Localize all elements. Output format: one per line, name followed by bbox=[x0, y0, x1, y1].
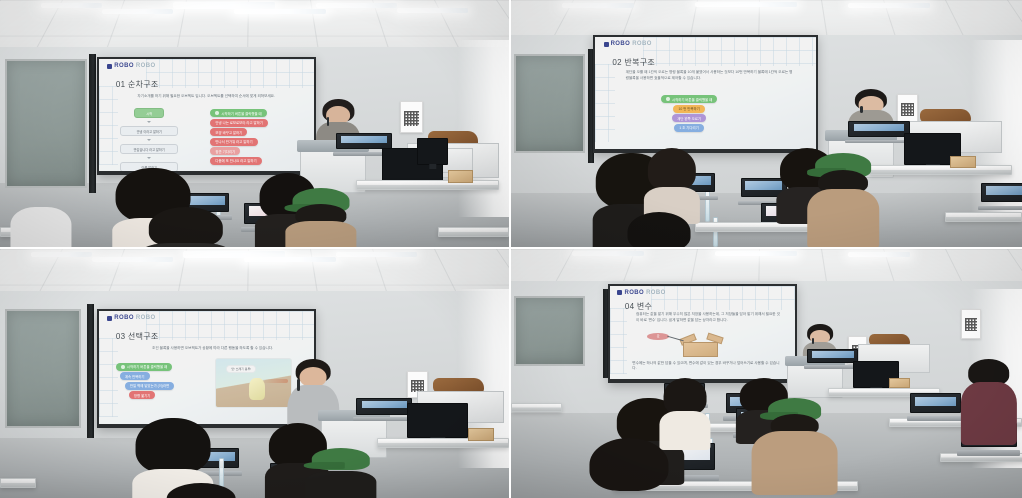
laptop-lid bbox=[356, 398, 412, 414]
slide-footer-text: 변수에는 하나의 값만 담을 수 있으며, 변수에 값이 있는 경우 바꾸거나 … bbox=[632, 361, 780, 372]
torso bbox=[961, 382, 1017, 445]
code-block-label: 방향 옮기기 bbox=[134, 393, 151, 398]
classroom-scene: ROBOROBO 04 변수 컴퓨터는 값을 맡기 위해 무수히 많은 저장을 … bbox=[511, 249, 1022, 498]
slide: ROBOROBO 01 순차구조 자기소개를 하기 위해 필요한 오브젝트 입니… bbox=[99, 59, 314, 172]
hair bbox=[149, 207, 223, 247]
laptop-screen bbox=[915, 397, 956, 406]
play-icon bbox=[666, 97, 670, 101]
ceiling-light bbox=[92, 257, 173, 262]
code-block: 계속 반복하기 bbox=[120, 372, 150, 380]
laptop-screen bbox=[986, 186, 1022, 195]
slide: ROBOROBO 03 선택구조 조건 블록을 사용하면 오브젝트가 상황에 따… bbox=[99, 311, 314, 425]
slide-code-blocks: 시작하기 버튼을 클릭했을 때 안녕 나는 로보로보야 라고 말하기 모양 바꾸… bbox=[210, 109, 267, 165]
collage-panel-bottom-right[interactable]: ROBOROBO 04 변수 컴퓨터는 값을 맡기 위해 무수히 많은 저장을 … bbox=[511, 249, 1022, 498]
carton-box bbox=[950, 156, 976, 168]
variable-box-illustration bbox=[677, 333, 725, 359]
slide-decor-grid bbox=[146, 59, 314, 88]
play-icon bbox=[215, 111, 219, 115]
student-with-cap bbox=[285, 188, 356, 247]
value-tag: 값 bbox=[647, 333, 669, 340]
monitor bbox=[407, 403, 468, 438]
student bbox=[623, 212, 695, 247]
green-cap bbox=[312, 448, 370, 470]
student bbox=[10, 207, 71, 247]
slide-body-text: 계단을 오를 때 1칸씩 오르는 명령 블록을 10개 붙였어서 사용하는 것보… bbox=[626, 70, 794, 81]
student-with-cap bbox=[807, 153, 879, 247]
roboroboe-logo: ROBOROBO bbox=[107, 315, 155, 321]
torso bbox=[10, 207, 71, 247]
qr-code-poster bbox=[897, 94, 918, 124]
code-block: 1 초 기다리기 bbox=[674, 124, 703, 132]
speech-bubble: 앗! 쓰레기 봉투! bbox=[226, 365, 256, 373]
classroom-scene: ROBOROBO 01 순차구조 자기소개를 하기 위해 필요한 오브젝트 입니… bbox=[0, 0, 509, 247]
code-block: 다음에 또 만나요 라고 말하기 bbox=[210, 157, 261, 165]
code-block-label: 계속 반복하기 bbox=[125, 374, 145, 379]
code-block-label: 다음에 또 만나요 라고 말하기 bbox=[215, 158, 256, 163]
monitor bbox=[417, 138, 448, 165]
chalkboard bbox=[5, 59, 86, 187]
carton-box bbox=[448, 170, 473, 182]
pillar bbox=[89, 54, 96, 192]
qr-code-poster bbox=[400, 101, 423, 133]
hair bbox=[648, 148, 696, 191]
laptop bbox=[848, 121, 909, 143]
slide-flowchart: 시작 안녕 이라고 말하기 반갑습니다 라고 말하기 이름 말하기 끝내기 bbox=[120, 108, 178, 171]
code-block-label: 시작하기 버튼을 클릭했을 때 bbox=[672, 97, 712, 102]
logo-mark bbox=[107, 64, 112, 69]
torso bbox=[751, 431, 838, 495]
chalkboard bbox=[514, 54, 586, 153]
slide-title: 02 반복구조 bbox=[612, 57, 655, 68]
flow-arrow-icon bbox=[147, 157, 151, 159]
ceiling-light bbox=[316, 3, 397, 8]
slide-body-text: 조건 블록을 사용하면 오브젝트가 상황에 따라 다른 행동을 하도록 할 수 … bbox=[133, 346, 292, 352]
projection-screen: ROBOROBO 04 변수 컴퓨터는 값을 맡기 위해 무수히 많은 저장을 … bbox=[608, 284, 797, 384]
torso bbox=[285, 221, 356, 247]
torso bbox=[807, 189, 879, 247]
code-block: 시작하기 버튼을 클릭했을 때 bbox=[661, 95, 717, 103]
hair bbox=[589, 438, 668, 491]
torso bbox=[305, 471, 376, 498]
laptop bbox=[807, 349, 858, 369]
roboroboe-logo: ROBOROBO bbox=[604, 41, 652, 47]
code-block: 방향 옮기기 bbox=[129, 391, 156, 399]
laptop-lid bbox=[807, 349, 858, 363]
logo-word-2: ROBO bbox=[136, 63, 156, 69]
student-with-cap bbox=[751, 398, 838, 493]
student bbox=[644, 148, 700, 222]
code-block-label: 10 번 반복하기 bbox=[678, 106, 699, 111]
desk bbox=[945, 212, 1022, 222]
flow-step: 반갑습니다 라고 말하기 bbox=[120, 144, 178, 154]
ceiling-light bbox=[244, 257, 336, 262]
roboroboe-logo: ROBOROBO bbox=[617, 290, 665, 296]
code-block: 시작하기 버튼을 클릭했을 때 bbox=[210, 109, 266, 117]
chalkboard bbox=[514, 296, 586, 366]
ceiling-light bbox=[572, 251, 644, 256]
code-block: 시작하기 버튼을 클릭했을 때 bbox=[116, 363, 172, 371]
code-block-label: 계단 왼쪽 오르기 bbox=[677, 116, 701, 121]
code-block: 잠깐 기다리기 bbox=[210, 147, 240, 155]
laptop-lid bbox=[981, 183, 1022, 203]
code-block: 모양 바꾸고 말하기 bbox=[210, 128, 247, 136]
code-block: 계단 왼쪽 오르기 bbox=[672, 114, 706, 122]
code-block-label: 1 초 기다리기 bbox=[679, 125, 698, 130]
carton-box bbox=[889, 378, 909, 388]
laptop bbox=[356, 398, 412, 420]
collage-panel-bottom-left[interactable]: ROBOROBO 03 선택구조 조건 블록을 사용하면 오브젝트가 상황에 따… bbox=[0, 249, 509, 498]
code-block: 만일 벽에 닿았는가 (이)라면 bbox=[125, 382, 174, 390]
microphone bbox=[297, 379, 299, 390]
hair bbox=[663, 378, 706, 414]
code-block-label: 안녕 나는 로보로보야 라고 말하기 bbox=[215, 120, 262, 125]
code-block: 만나서 반가워 라고 말하기 bbox=[210, 138, 257, 146]
code-block-label: 모양 바꾸고 말하기 bbox=[215, 130, 242, 135]
qr-code-poster bbox=[961, 309, 981, 339]
laptop-base bbox=[978, 206, 1022, 210]
logo-word-1: ROBO bbox=[624, 290, 644, 296]
ceiling-light bbox=[562, 3, 634, 8]
logo-word-1: ROBO bbox=[611, 41, 631, 47]
code-block-label: 시작하기 버튼을 클릭했을 때 bbox=[127, 364, 167, 369]
desk bbox=[438, 227, 509, 237]
slide-decor-grid-side bbox=[595, 64, 615, 143]
ceiling-light bbox=[848, 3, 930, 8]
logo-mark bbox=[617, 290, 622, 295]
desk bbox=[511, 403, 562, 412]
hair-curly bbox=[136, 418, 211, 474]
flow-arrow-icon bbox=[147, 121, 151, 123]
microphone bbox=[860, 106, 862, 114]
ceiling-light bbox=[336, 252, 417, 257]
chalkboard bbox=[5, 309, 81, 429]
student bbox=[163, 483, 239, 498]
student bbox=[143, 207, 230, 247]
code-block-label: 잠깐 기다리기 bbox=[215, 149, 235, 154]
window-glare bbox=[458, 40, 509, 218]
desk bbox=[869, 165, 1012, 175]
classroom-scene: ROBOROBO 03 선택구조 조건 블록을 사용하면 오브젝트가 상황에 따… bbox=[0, 249, 509, 498]
collage-panel-top-left[interactable]: ROBOROBO 01 순차구조 자기소개를 하기 위해 필요한 오브젝트 입니… bbox=[0, 0, 509, 247]
logo-mark bbox=[604, 42, 609, 47]
box-body bbox=[683, 342, 718, 357]
roboroboe-logo: ROBOROBO bbox=[107, 63, 155, 69]
slide-title: 03 선택구조 bbox=[116, 331, 159, 342]
logo-word-2: ROBO bbox=[136, 315, 156, 321]
logo-word-1: ROBO bbox=[114, 63, 134, 69]
logo-word-1: ROBO bbox=[114, 315, 134, 321]
play-icon bbox=[121, 365, 125, 369]
code-block-label: 만일 벽에 닿았는가 (이)라면 bbox=[130, 383, 169, 388]
desk bbox=[0, 478, 36, 488]
laptop-screen bbox=[854, 124, 904, 131]
code-block-label: 시작하기 버튼을 클릭했을 때 bbox=[221, 111, 261, 116]
head bbox=[327, 106, 351, 124]
projection-screen: ROBOROBO 01 순차구조 자기소개를 하기 위해 필요한 오브젝트 입니… bbox=[97, 57, 316, 176]
laptop-base bbox=[957, 450, 1020, 455]
ceiling-light bbox=[31, 252, 92, 257]
slide-illustration: 앗! 쓰레기 봉투! bbox=[215, 358, 292, 408]
student bbox=[583, 438, 675, 498]
logo-mark bbox=[107, 316, 112, 321]
slide-decor-grid-side bbox=[610, 308, 627, 374]
logo-word-2: ROBO bbox=[632, 41, 652, 47]
desk bbox=[356, 180, 499, 190]
flow-arrow-icon bbox=[147, 139, 151, 141]
code-block: 안녕 나는 로보로보야 라고 말하기 bbox=[210, 119, 267, 127]
ceiling-light bbox=[397, 8, 468, 13]
slide-code-blocks: 시작하기 버튼을 클릭했을 때 계속 반복하기 만일 벽에 닿았는가 (이)라면… bbox=[116, 363, 174, 400]
classroom-scene: ROBOROBO 02 반복구조 계단을 오를 때 1칸씩 오르는 명령 블록을… bbox=[511, 0, 1022, 247]
logo-word-2: ROBO bbox=[646, 290, 666, 296]
flow-step: 안녕 이라고 말하기 bbox=[120, 126, 178, 136]
hair bbox=[167, 483, 236, 498]
laptop-screen bbox=[362, 401, 407, 408]
slide-body-text: 자기소개를 하기 위해 필요한 오브젝트 입니다. 오브젝트를 선택하여 순서에… bbox=[137, 94, 296, 100]
student-with-cap bbox=[305, 448, 376, 498]
slide-decor-grid bbox=[643, 37, 815, 66]
carton-box bbox=[468, 428, 493, 440]
slide-decor-grid bbox=[651, 286, 795, 310]
ceiling-light bbox=[41, 3, 102, 8]
ceiling-light bbox=[715, 251, 797, 256]
laptop bbox=[981, 183, 1022, 210]
laptop-lid bbox=[336, 133, 392, 149]
projection-screen: ROBOROBO 02 반복구조 계단을 오를 때 1칸씩 오르는 명령 블록을… bbox=[593, 35, 818, 154]
ceiling-light bbox=[848, 252, 909, 257]
ceiling-light bbox=[695, 2, 797, 7]
photo-collage: ROBOROBO 01 순차구조 자기소개를 하기 위해 필요한 오브젝트 입니… bbox=[0, 0, 1022, 498]
torso bbox=[143, 243, 230, 247]
slide-decor-grid bbox=[146, 311, 314, 341]
laptop-lid bbox=[848, 121, 909, 137]
code-block: 10 번 반복하기 bbox=[673, 105, 704, 113]
laptop bbox=[910, 393, 961, 420]
laptop-screen bbox=[812, 351, 853, 357]
slide: ROBOROBO 02 반복구조 계단을 오를 때 1칸씩 오르는 명령 블록을… bbox=[595, 37, 816, 150]
projection-screen: ROBOROBO 03 선택구조 조건 블록을 사용하면 오브젝트가 상황에 따… bbox=[97, 309, 316, 429]
microphone bbox=[327, 117, 329, 127]
slide-title: 01 순차구조 bbox=[116, 79, 159, 90]
collage-panel-top-right[interactable]: ROBOROBO 02 반복구조 계단을 오를 때 1칸씩 오르는 명령 블록을… bbox=[511, 0, 1022, 247]
laptop-base bbox=[907, 416, 964, 420]
pillar bbox=[87, 304, 94, 438]
hair bbox=[628, 212, 691, 247]
flow-start: 시작 bbox=[134, 108, 164, 118]
slide-title: 04 변수 bbox=[625, 301, 652, 312]
ceiling-light bbox=[102, 9, 173, 14]
laptop-base bbox=[845, 140, 914, 144]
head bbox=[300, 367, 327, 387]
student bbox=[961, 359, 1017, 444]
slide: ROBOROBO 04 변수 컴퓨터는 값을 맡기 위해 무수히 많은 저장을 … bbox=[610, 286, 795, 380]
code-block-label: 만나서 반가워 라고 말하기 bbox=[215, 139, 252, 144]
slide-decor-grid-side bbox=[99, 86, 118, 165]
ceiling-light bbox=[234, 9, 326, 14]
laptop-lid bbox=[910, 393, 961, 413]
ceiling-light bbox=[173, 2, 275, 9]
laptop-screen bbox=[341, 136, 386, 143]
slide-body-text: 컴퓨터는 값을 맡기 위해 무수히 많은 저장을 사용하는데, 그 저장들을 담… bbox=[636, 312, 780, 323]
microphone bbox=[812, 338, 814, 344]
slide-code-blocks: 시작하기 버튼을 클릭했을 때 10 번 반복하기 계단 왼쪽 오르기 1 초 … bbox=[661, 95, 717, 132]
